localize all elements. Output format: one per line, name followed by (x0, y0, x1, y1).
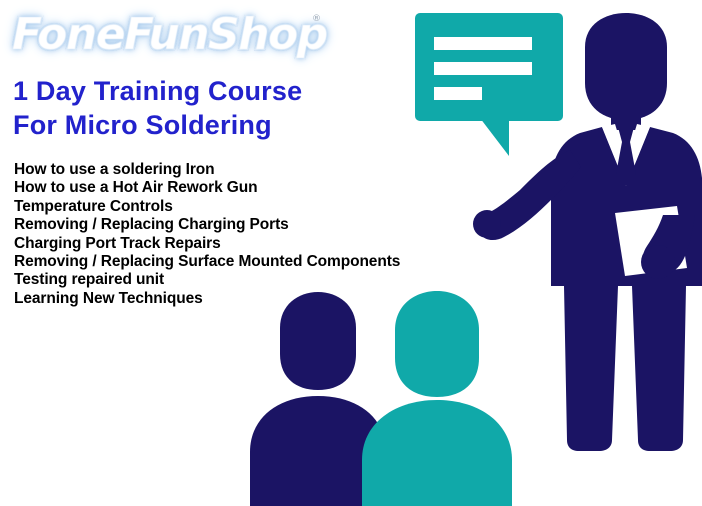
training-illustration (240, 0, 702, 506)
audience-navy-head (280, 292, 356, 390)
training-course-poster: FoneFunShop ® 1 Day Training Course For … (0, 0, 702, 506)
presenter-head (585, 13, 667, 120)
speech-bubble-icon (415, 13, 563, 156)
presenter-left-hand (473, 210, 501, 238)
audience-figure-teal (362, 291, 512, 506)
audience-teal-head (395, 291, 479, 397)
presenter-leg-left (564, 286, 618, 451)
presenter-right-hand (641, 245, 675, 279)
audience-teal-body (362, 400, 512, 506)
presenter-leg-right (632, 286, 686, 451)
